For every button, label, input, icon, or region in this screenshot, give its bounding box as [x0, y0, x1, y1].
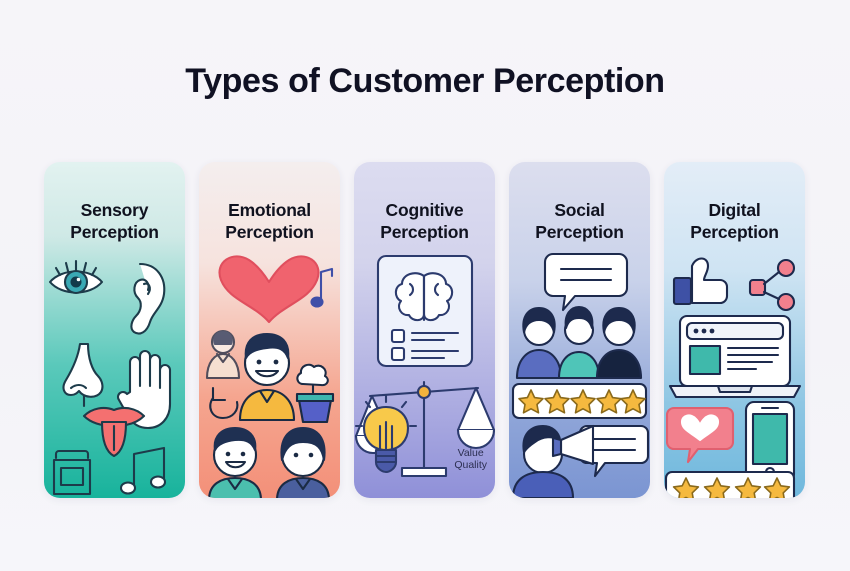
- eye-icon: [50, 261, 102, 293]
- woman-icon: [277, 428, 329, 498]
- card-social-perception[interactable]: Social Perception: [509, 162, 650, 498]
- refresh-arrow-icon: [210, 388, 237, 418]
- card-sensory-perception[interactable]: Sensory Perception: [44, 162, 185, 498]
- jar-icon: [54, 451, 90, 494]
- star-rating-icon: [666, 472, 794, 498]
- card-digital-perception[interactable]: Digital Perception: [664, 162, 805, 498]
- card-heading-digital: Digital Perception: [664, 200, 805, 244]
- share-icon: [750, 260, 794, 310]
- emotional-illustration: [199, 250, 340, 498]
- lightbulb-icon: [356, 396, 416, 472]
- nose-icon: [64, 344, 103, 406]
- tongue-icon: [84, 408, 144, 456]
- ear-icon: [131, 264, 164, 334]
- card-heading-emotional: Emotional Perception: [199, 200, 340, 244]
- heart-bubble-icon: [667, 408, 733, 462]
- star-rating-icon: [513, 384, 646, 418]
- brain-document-icon: [378, 256, 472, 366]
- smiling-man-icon: [209, 428, 261, 498]
- heart-icon: [220, 256, 319, 322]
- social-illustration: [509, 250, 650, 498]
- speech-bubble-icon: [545, 254, 627, 310]
- card-heading-cognitive: Cognitive Perception: [354, 200, 495, 244]
- digital-illustration: [664, 250, 805, 498]
- card-heading-sensory: Sensory Perception: [44, 200, 185, 244]
- infographic-page: Types of Customer Perception Sensory Per…: [0, 0, 850, 571]
- laptop-browser-icon: [670, 316, 800, 397]
- megaphone-icon: [513, 426, 593, 498]
- potted-plant-icon: [297, 365, 333, 422]
- music-note-icon: [121, 448, 165, 494]
- people-group-icon: [517, 307, 641, 378]
- perception-card-list: Sensory Perception: [44, 162, 810, 498]
- smartphone-icon: [746, 402, 794, 482]
- card-emotional-perception[interactable]: Emotional Perception: [199, 162, 340, 498]
- card-cognitive-perception[interactable]: Cognitive Perception: [354, 162, 495, 498]
- smiling-person-icon: [240, 334, 294, 420]
- sensory-illustration: [44, 250, 185, 498]
- card-heading-social: Social Perception: [509, 200, 650, 244]
- thumbs-up-icon: [674, 259, 727, 305]
- page-title: Types of Customer Perception: [0, 62, 850, 101]
- scale-value-quality-label: Value Quality: [454, 447, 487, 472]
- person-icon: [207, 331, 239, 378]
